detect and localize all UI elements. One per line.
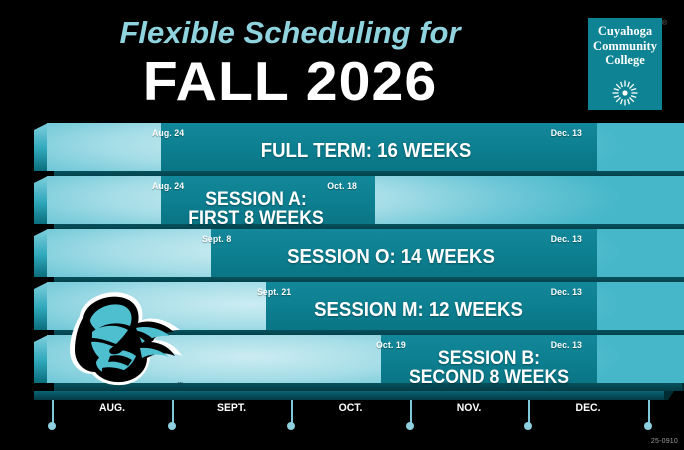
bar-start-date: Sept. 21 xyxy=(257,287,291,298)
bar-start-date: Oct. 19 xyxy=(376,340,406,351)
bar-label: FULL TERM: 16 WEEKS xyxy=(163,141,568,162)
axis-tick-dot-6 xyxy=(644,422,652,430)
bar-left-bevel xyxy=(34,123,48,171)
trademark-icon: ™ xyxy=(177,382,183,388)
bar-start-date: Sept. 8 xyxy=(202,234,231,245)
axis-label-aug: AUG. xyxy=(55,402,169,414)
poster-root: Flexible Scheduling for FALL 2026 Cuyaho… xyxy=(0,0,684,450)
bar-left-bevel xyxy=(34,176,48,224)
table-row[interactable]: Aug. 24 Oct. 18 SESSION A: FIRST 8 WEEKS xyxy=(34,176,674,232)
bar-label-line-1: SESSION A: xyxy=(163,190,349,210)
bar-label-line-2: SECOND 8 WEEKS xyxy=(387,368,592,388)
table-row[interactable]: Sept. 8 Dec. 13 SESSION O: 14 WEEKS xyxy=(34,229,674,285)
bar-start-date: Aug. 24 xyxy=(152,128,184,139)
triceratops-mascot-icon: ™ xyxy=(50,286,185,390)
bar-label: SESSION O: 14 WEEKS xyxy=(212,247,571,268)
bar-label-line-2: FIRST 8 WEEKS xyxy=(152,209,360,229)
bar-end-date: Dec. 13 xyxy=(536,234,582,245)
bar-left-bevel xyxy=(34,335,48,383)
axis-line xyxy=(34,391,664,400)
axis-tick-dot-5 xyxy=(524,422,532,430)
axis-tick-dot-2 xyxy=(168,422,176,430)
axis-label-oct: OCT. xyxy=(294,402,407,414)
bar-end-date: Dec. 13 xyxy=(536,128,582,139)
bar-label-line-1: SESSION B: xyxy=(415,349,564,369)
bar-left-bevel xyxy=(34,282,48,330)
bar-label: SESSION M: 12 WEEKS xyxy=(265,300,573,321)
axis-label-sept: SEPT. xyxy=(175,402,288,414)
bar-left-bevel xyxy=(34,229,48,277)
axis-label-nov: NOV. xyxy=(413,402,525,414)
bar-end-date: Dec. 13 xyxy=(536,287,582,298)
axis-tick-dot-3 xyxy=(287,422,295,430)
schedule-bar-chart: Aug. 24 Dec. 13 FULL TERM: 16 WEEKS Aug.… xyxy=(0,0,684,450)
table-row[interactable]: Aug. 24 Dec. 13 FULL TERM: 16 WEEKS xyxy=(34,123,674,179)
bar-body xyxy=(47,176,684,224)
document-code: 25-0910 xyxy=(651,438,678,445)
axis-label-dec: DEC. xyxy=(531,402,645,414)
axis-tick-dot-1 xyxy=(48,422,56,430)
axis-tick-dot-4 xyxy=(406,422,414,430)
